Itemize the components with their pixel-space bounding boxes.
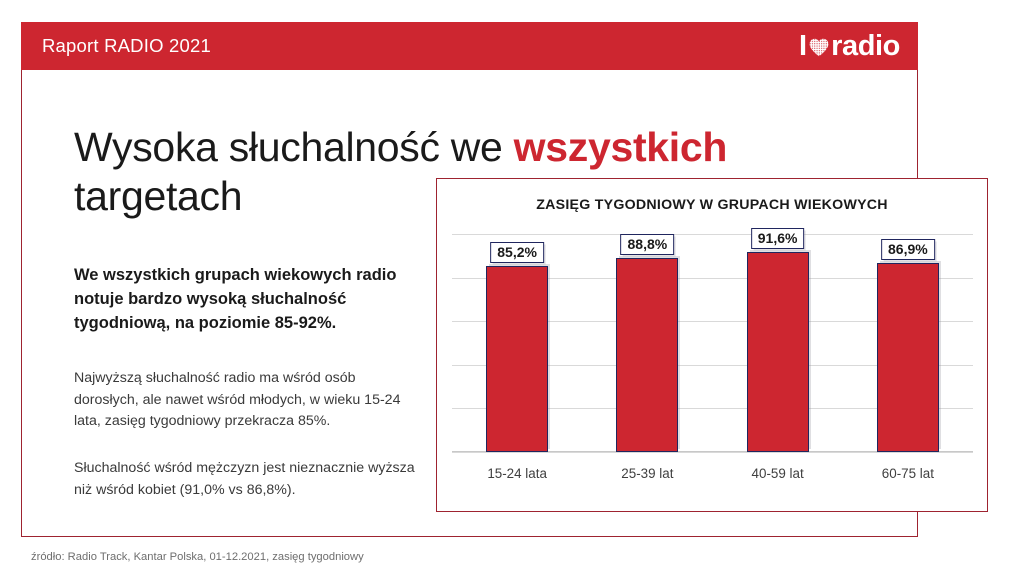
category-label: 15-24 lata (487, 466, 547, 481)
chart-card: ZASIĘG TYGODNIOWY W GRUPACH WIEKOWYCH 85… (436, 178, 988, 512)
bar-value-label: 86,9% (881, 239, 935, 260)
bar-group: 85,2%15-24 lata (486, 234, 548, 452)
logo-word-radio: radio (831, 32, 900, 61)
bar[interactable] (616, 258, 678, 452)
category-label: 60-75 lat (882, 466, 934, 481)
bar-value-label: 85,2% (490, 242, 544, 263)
category-label: 40-59 lat (752, 466, 804, 481)
bar-group: 88,8%25-39 lat (616, 234, 678, 452)
body-paragraph-1: Najwyższą słuchalność radio ma wśród osó… (74, 368, 422, 433)
chart-plot-area: 85,2%15-24 lata88,8%25-39 lat91,6%40-59 … (452, 234, 973, 452)
lead-paragraph: We wszystkich grupach wiekowych radio no… (74, 263, 414, 336)
body-paragraph-2: Słuchalność wśród mężczyzn jest nieznacz… (74, 458, 426, 501)
bar-value-label: 88,8% (621, 234, 675, 255)
gridline (452, 452, 973, 453)
bar[interactable] (747, 252, 809, 452)
iradio-logo: I radio (799, 30, 900, 62)
bar-group: 91,6%40-59 lat (747, 234, 809, 452)
category-label: 25-39 lat (621, 466, 673, 481)
chart-bars: 85,2%15-24 lata88,8%25-39 lat91,6%40-59 … (452, 234, 973, 452)
bar-value-label: 91,6% (751, 228, 805, 249)
page-title: Raport RADIO 2021 (42, 35, 211, 57)
header-bar: Raport RADIO 2021 I radio (21, 22, 918, 70)
heart-icon (809, 38, 829, 57)
headline-part-1: Wysoka słuchalność we (74, 124, 514, 170)
chart-title: ZASIĘG TYGODNIOWY W GRUPACH WIEKOWYCH (437, 197, 987, 213)
source-note: źródło: Radio Track, Kantar Polska, 01-1… (31, 551, 364, 563)
bar-group: 86,9%60-75 lat (877, 234, 939, 452)
bar[interactable] (486, 266, 548, 452)
headline-part-2: targetach (74, 173, 242, 219)
logo-letter-i: I (799, 32, 807, 61)
headline-accent: wszystkich (514, 124, 728, 170)
bar[interactable] (877, 263, 939, 452)
